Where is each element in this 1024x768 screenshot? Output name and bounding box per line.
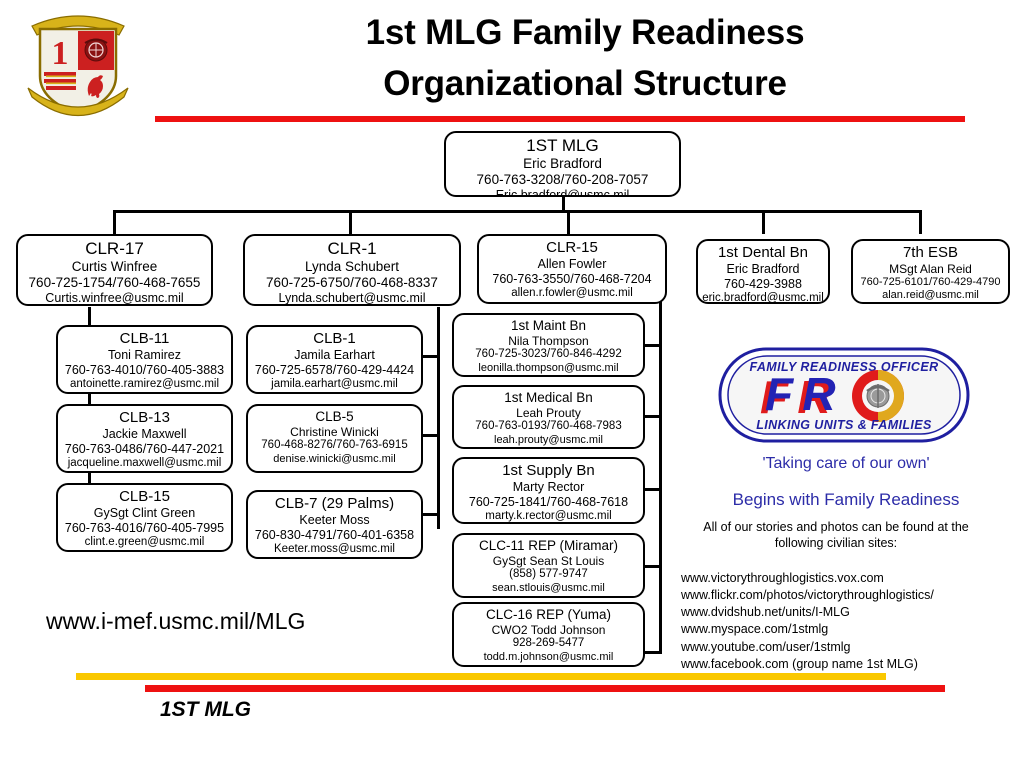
site-link[interactable]: www.myspace.com/1stmlg [681,621,1011,638]
org-box-title: CLB-15 [62,488,227,506]
org-box-name: Eric Bradford [450,156,675,172]
org-box-title: CLB-11 [62,330,227,348]
org-box-name: Eric Bradford [702,262,824,277]
org-box-title: 1st Maint Bn [458,318,639,334]
org-box-clb-7[interactable]: CLB-7 (29 Palms) Keeter Moss 760-830-479… [246,490,423,559]
page-title-line1: 1st MLG Family Readiness [150,8,1020,59]
org-box-email: clint.e.green@usmc.mil [62,536,227,550]
connector-stub-supply [645,488,662,491]
svg-text:LINKING UNITS & FAMILIES: LINKING UNITS & FAMILIES [756,418,932,432]
footer-label: 1ST MLG [160,698,251,722]
org-box-email: eric.bradford@usmc.mil [702,292,824,304]
org-box-clb-15[interactable]: CLB-15 GySgt Clint Green 760-763-4016/76… [56,483,233,552]
org-box-name: GySgt Sean St Louis [458,554,639,568]
org-box-title: CLB-13 [62,409,227,427]
org-box-email: allen.r.fowler@usmc.mil [483,287,661,301]
site-link[interactable]: www.dvidshub.net/units/I-MLG [681,604,1011,621]
connector-stub-clb7 [420,513,440,516]
org-box-name: Toni Ramirez [62,348,227,363]
page-title: 1st MLG Family Readiness Organizational … [150,8,1020,110]
fro-tagline-1: 'Taking care of our own' [676,455,1016,473]
connector-stub-clb5 [420,434,440,437]
page-title-line2: Organizational Structure [150,59,1020,110]
org-box-email: denise.winicki@usmc.mil [252,453,417,466]
org-box-name: Nila Thompson [458,334,639,348]
svg-text:R: R [802,368,835,420]
org-box-email: Keeter.moss@usmc.mil [252,543,417,557]
org-box-name: MSgt Alan Reid [857,262,1004,276]
org-box-email: jamila.earhart@usmc.mil [252,378,417,392]
org-box-name: Christine Winicki [252,425,417,439]
org-box-name: Keeter Moss [252,513,417,528]
org-box-phone: 760-725-6750/760-468-8337 [249,275,455,291]
org-box-phone: 928-269-5477 [458,637,639,651]
connector-spine-clr15 [659,300,662,654]
org-box-title: CLC-11 REP (Miramar) [458,538,639,554]
org-box-email: todd.m.johnson@usmc.mil [458,651,639,664]
org-box-email: jacqueline.maxwell@usmc.mil [62,457,227,471]
org-box-phone: 760-725-3023/760-846-4292 [458,348,639,362]
org-box-clc-16-rep[interactable]: CLC-16 REP (Yuma) CWO2 Todd Johnson 928-… [452,602,645,667]
civilian-sites-list: www.victorythroughlogistics.vox.com www.… [681,570,1011,673]
org-box-phone: 760-763-0193/760-468-7983 [458,420,639,434]
org-box-name: GySgt Clint Green [62,506,227,521]
footer-red-bar [145,685,945,692]
svg-text:1: 1 [52,35,69,72]
1st-mlg-crest-logo: 1 [18,4,138,120]
connector-spine-clr1 [437,307,440,529]
org-box-title: CLR-15 [483,239,661,257]
connector-stub-maint [645,344,662,347]
org-box-phone: 760-725-6578/760-429-4424 [252,363,417,378]
org-box-title: CLC-16 REP (Yuma) [458,607,639,623]
org-box-phone: 760-725-6101/760-429-4790 [857,276,1004,289]
connector-drop-clr1 [349,210,352,234]
org-box-name: CWO2 Todd Johnson [458,623,639,637]
org-box-phone: 760-763-3550/760-468-7204 [483,272,661,287]
org-box-clc-11-rep[interactable]: CLC-11 REP (Miramar) GySgt Sean St Louis… [452,533,645,598]
org-box-name: Lynda Schubert [249,259,455,275]
org-box-phone: 760-429-3988 [702,277,824,292]
connector-stub-clb1 [420,355,440,358]
org-box-clb-11[interactable]: CLB-11 Toni Ramirez 760-763-4010/760-405… [56,325,233,394]
org-box-phone: 760-830-4791/760-401-6358 [252,528,417,543]
fro-logo: FAMILY READINESS OFFICER F R F R LINKING… [718,345,970,445]
connector-drop-dental [762,210,765,234]
org-box-name: Allen Fowler [483,257,661,272]
org-box-clr-15[interactable]: CLR-15 Allen Fowler 760-763-3550/760-468… [477,234,667,304]
org-box-email: marty.k.rector@usmc.mil [458,510,639,524]
org-box-title: CLR-17 [22,239,207,259]
org-box-title: 1st Dental Bn [702,244,824,262]
org-box-title: CLB-5 [252,409,417,425]
org-box-1st-maint-bn[interactable]: 1st Maint Bn Nila Thompson 760-725-3023/… [452,313,645,377]
org-box-email: Lynda.schubert@usmc.mil [249,291,455,306]
org-box-phone: 760-725-1841/760-468-7618 [458,495,639,510]
org-box-title: CLB-7 (29 Palms) [252,495,417,513]
org-box-email: Curtis.winfree@usmc.mil [22,291,207,306]
connector-stub-clc11 [645,565,662,568]
org-box-1st-supply-bn[interactable]: 1st Supply Bn Marty Rector 760-725-1841/… [452,457,645,524]
connector-root-down [562,197,565,211]
org-box-phone: 760-763-3208/760-208-7057 [450,172,675,188]
org-box-phone: 760-763-0486/760-447-2021 [62,442,227,457]
connector-stub-clc16 [645,651,662,654]
connector-drop-clr17 [113,210,116,234]
org-box-phone: (858) 577-9747 [458,568,639,582]
org-box-clb-5[interactable]: CLB-5 Christine Winicki 760-468-8276/760… [246,404,423,473]
footer-url[interactable]: www.i-mef.usmc.mil/MLG [46,608,305,635]
org-box-clr-17[interactable]: CLR-17 Curtis Winfree 760-725-1754/760-4… [16,234,213,306]
org-box-email: Eric.bradford@usmc.mil [450,188,675,197]
org-box-title: 1st Supply Bn [458,462,639,480]
site-link[interactable]: www.victorythroughlogistics.vox.com [681,570,1011,587]
org-box-email: sean.stlouis@usmc.mil [458,582,639,595]
org-box-name: Jamila Earhart [252,348,417,363]
header-red-rule [155,116,965,122]
civilian-sites-intro: All of our stories and photos can be fou… [686,520,986,551]
org-box-1st-mlg[interactable]: 1ST MLG Eric Bradford 760-763-3208/760-2… [444,131,681,197]
org-box-name: Jackie Maxwell [62,427,227,442]
org-box-email: antoinette.ramirez@usmc.mil [62,378,227,392]
org-box-clr-1[interactable]: CLR-1 Lynda Schubert 760-725-6750/760-46… [243,234,461,306]
org-box-clb-1[interactable]: CLB-1 Jamila Earhart 760-725-6578/760-42… [246,325,423,394]
connector-stub-medical [645,415,662,418]
org-box-title: CLR-1 [249,239,455,259]
connector-drop-clr15 [567,210,570,234]
org-box-7th-esb[interactable]: 7th ESB MSgt Alan Reid 760-725-6101/760-… [851,239,1010,304]
org-box-phone: 760-468-8276/760-763-6915 [252,439,417,453]
org-box-name: Curtis Winfree [22,259,207,275]
org-box-email: leonilla.thompson@usmc.mil [458,362,639,375]
connector-main-bus [113,210,919,213]
site-link[interactable]: www.flickr.com/photos/victorythroughlogi… [681,587,1011,604]
org-box-title: CLB-1 [252,330,417,348]
site-link[interactable]: www.facebook.com (group name 1st MLG) [681,656,1011,673]
svg-text:F: F [765,368,795,420]
org-box-clb-13[interactable]: CLB-13 Jackie Maxwell 760-763-0486/760-4… [56,404,233,473]
org-box-1st-medical-bn[interactable]: 1st Medical Bn Leah Prouty 760-763-0193/… [452,385,645,449]
org-box-title: 1st Medical Bn [458,390,639,406]
org-box-name: Marty Rector [458,480,639,495]
connector-drop-esb [919,210,922,234]
org-box-phone: 760-763-4016/760-405-7995 [62,521,227,536]
org-box-phone: 760-725-1754/760-468-7655 [22,275,207,291]
org-box-1st-dental-bn[interactable]: 1st Dental Bn Eric Bradford 760-429-3988… [696,239,830,304]
org-box-title: 7th ESB [857,244,1004,262]
footer-yellow-bar [76,673,886,680]
site-link[interactable]: www.youtube.com/user/1stmlg [681,639,1011,656]
org-box-email: leah.prouty@usmc.mil [458,434,639,447]
org-box-name: Leah Prouty [458,406,639,420]
org-box-phone: 760-763-4010/760-405-3883 [62,363,227,378]
org-box-email: alan.reid@usmc.mil [857,289,1004,302]
fro-tagline-2: Begins with Family Readiness [676,490,1016,510]
org-box-title: 1ST MLG [450,136,675,156]
